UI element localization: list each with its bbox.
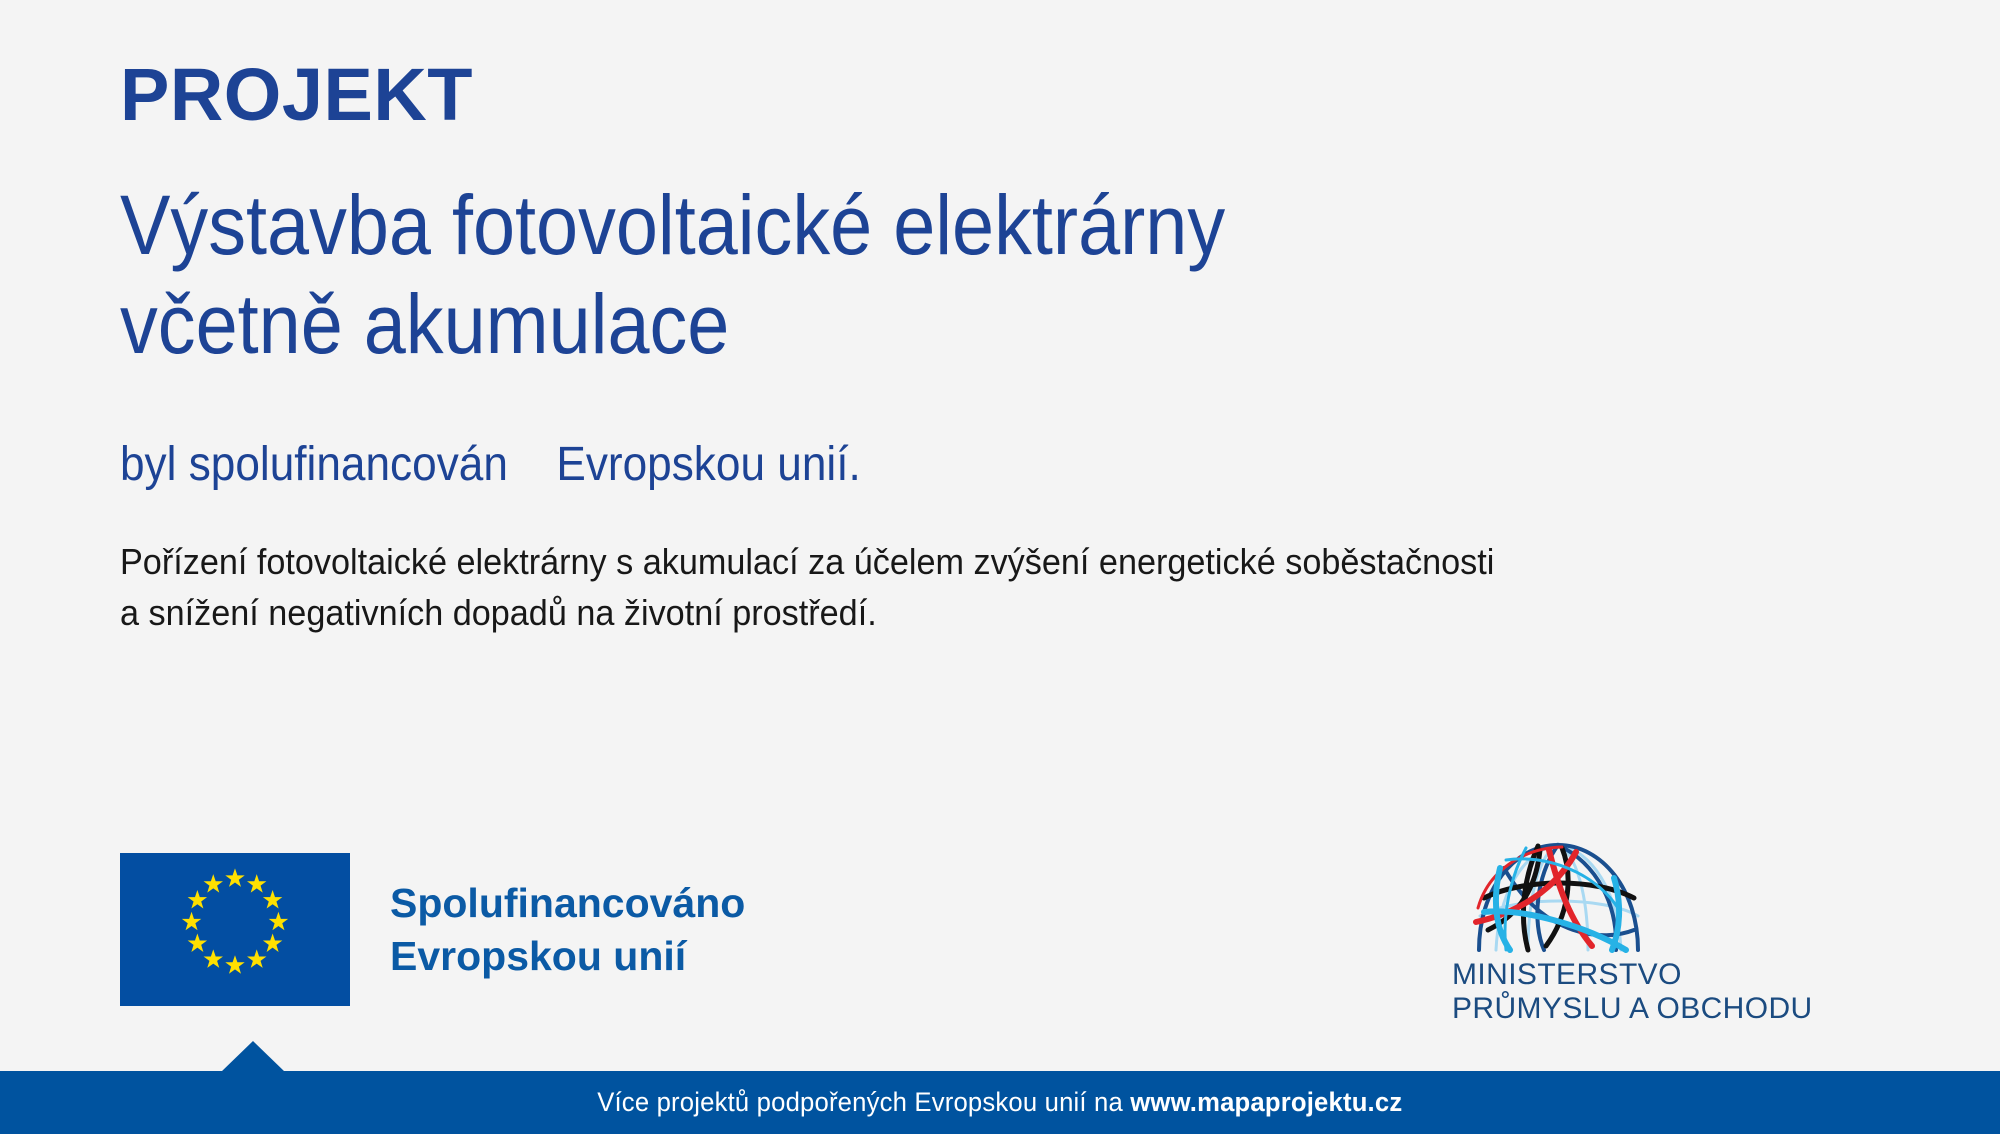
- eu-funding-label-line-1: Spolufinancováno: [390, 877, 745, 929]
- footer-bar: Více projektů podpořených Evropskou unií…: [0, 1071, 2000, 1134]
- page-title-line-2: včetně akumulace: [120, 275, 1470, 374]
- eu-funding-lockup: Spolufinancováno Evropskou unií: [120, 853, 745, 1006]
- poster-canvas: PROJEKT Výstavba fotovoltaické elektrárn…: [0, 0, 2000, 1134]
- eu-flag-icon: [120, 853, 350, 1006]
- ministry-name-line-2: PRŮMYSLU A OBCHODU: [1452, 992, 1792, 1026]
- page-kicker: PROJEKT: [120, 58, 1840, 132]
- project-description-line-1: Pořízení fotovoltaické elektrárny s akum…: [120, 536, 1754, 587]
- project-description: Pořízení fotovoltaické elektrárny s akum…: [120, 536, 1754, 638]
- page-title: Výstavba fotovoltaické elektrárny včetně…: [120, 176, 1470, 374]
- funding-subline-part-1: byl spolufinancován: [120, 438, 508, 491]
- eu-stars-icon: [120, 853, 350, 1006]
- eu-funding-label: Spolufinancováno Evropskou unií: [390, 877, 745, 982]
- funding-subline: byl spolufinancován Evropskou unií.: [120, 436, 1702, 494]
- ministry-name-line-1: MINISTERSTVO: [1452, 958, 1792, 992]
- ministry-name: MINISTERSTVO PRŮMYSLU A OBCHODU: [1452, 958, 1792, 1025]
- ministry-globe-icon: [1466, 838, 1651, 956]
- eu-funding-label-line-2: Evropskou unií: [390, 930, 745, 982]
- project-description-line-2: a snížení negativních dopadů na životní …: [120, 587, 1754, 638]
- content-block: PROJEKT Výstavba fotovoltaické elektrárn…: [120, 58, 1840, 638]
- triangle-up-icon: [221, 1041, 285, 1072]
- funding-subline-part-2: Evropskou unií.: [556, 438, 860, 491]
- footer-text-prefix: Více projektů podpořených Evropskou unií…: [597, 1087, 1123, 1117]
- page-title-line-1: Výstavba fotovoltaické elektrárny: [120, 176, 1470, 275]
- triangle-up-shape: [221, 1041, 285, 1072]
- ministry-logo: MINISTERSTVO PRŮMYSLU A OBCHODU: [1452, 838, 1792, 1025]
- footer-text: Více projektů podpořených Evropskou unií…: [597, 1087, 1402, 1118]
- footer-url-link[interactable]: www.mapaprojektu.cz: [1131, 1087, 1403, 1117]
